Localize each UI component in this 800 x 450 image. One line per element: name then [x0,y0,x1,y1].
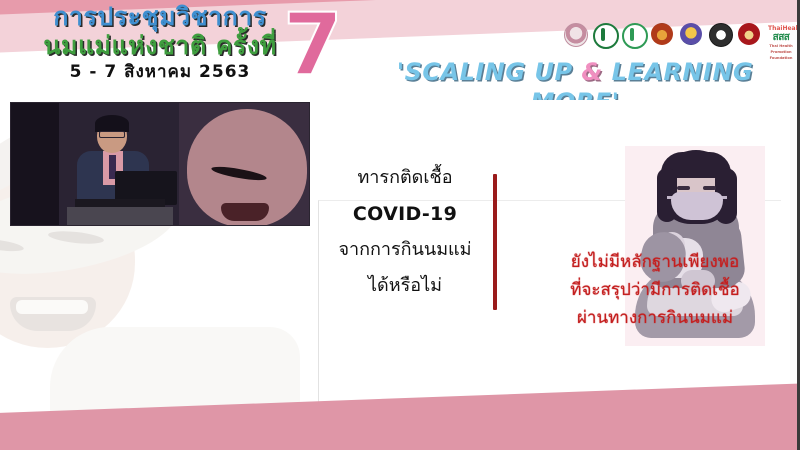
logo-nursing-council [679,23,703,53]
slogan-part1: 'SCALING UP [397,58,582,86]
conference-title-line2: นมแม่แห่งชาติ ครั้งที่ [20,31,300,60]
question-line2: COVID-19 [330,196,480,232]
mother-eye-right [703,186,716,190]
answer-line2: ที่จะสรุปว่ามีการติดเชื้อ [510,276,797,304]
logo-department-health [621,23,645,53]
question-line1: ทารกติดเชื้อ [330,160,480,196]
thaihealth-logo-main-text: สสส [766,32,796,43]
answer-line1: ยังไม่มีหลักฐานเพียงพอ [510,248,797,276]
podium-base [67,207,173,226]
conference-slogan: 'SCALING UP & LEARNING MORE' [360,57,790,100]
baby-teeth [16,300,88,314]
answer-text: ยังไม่มีหลักฐานเพียงพอ ที่จะสรุปว่ามีการ… [510,248,797,332]
logo-mark-icon [622,23,648,49]
conference-date: 5 - 7 สิงหาคม 2563 [20,60,300,84]
logo-ministry-public-health-green [592,23,616,53]
organization-logos: ThaiHealth สสส Thai Health Promotion Fou… [563,23,796,53]
slide-header: 7 การประชุมวิชาการ นมแม่แห่งชาติ ครั้งที… [0,0,800,100]
logo-mark-icon [651,23,673,45]
conference-title-block: การประชุมวิชาการ นมแม่แห่งชาติ ครั้งที่ … [20,2,300,84]
question-line4: ได้หรือไม่ [330,268,480,304]
mother-eye-left [677,186,690,190]
logo-mahidol-university [708,23,732,53]
video-screen-baby-mouth [221,203,269,221]
conference-video-thumbnail[interactable] [10,102,310,226]
face-mask-icon [671,192,723,220]
logo-thaihealth-sss: ThaiHealth สสส Thai Health Promotion Fou… [766,23,796,53]
logo-mark-icon [680,23,702,45]
thaihealth-logo-sub-text: Thai Health Promotion Foundation [766,43,796,49]
logo-mark-icon [593,23,619,49]
presentation-slide: 7 การประชุมวิชาการ นมแม่แห่งชาติ ครั้งที… [0,0,800,450]
logo-mark-icon [738,23,760,45]
logo-mark-icon [709,23,733,47]
logo-royal-college-pediatricians [650,23,674,53]
logo-thai-breastfeeding-foundation [563,23,587,53]
speaker-hair [95,115,129,132]
question-line3: จากการกินนมแม่ [330,232,480,268]
question-answer-area: ทารกติดเชื้อ COVID-19 จากการกินนมแม่ ได้… [330,160,797,410]
question-text: ทารกติดเชื้อ COVID-19 จากการกินนมแม่ ได้… [330,160,480,304]
conference-title-line1: การประชุมวิชาการ [20,2,300,31]
vertical-red-divider [493,174,497,310]
speaker-glasses-icon [99,131,125,138]
video-wall-left [11,103,59,226]
answer-line3: ผ่านทางการกินนมแม่ [510,304,797,332]
slogan-ampersand: & [581,58,602,86]
slide-body: ทารกติดเชื้อ COVID-19 จากการกินนมแม่ ได้… [0,100,797,450]
logo-mark-icon [564,23,588,47]
logo-royal-college-obstetricians [737,23,761,53]
